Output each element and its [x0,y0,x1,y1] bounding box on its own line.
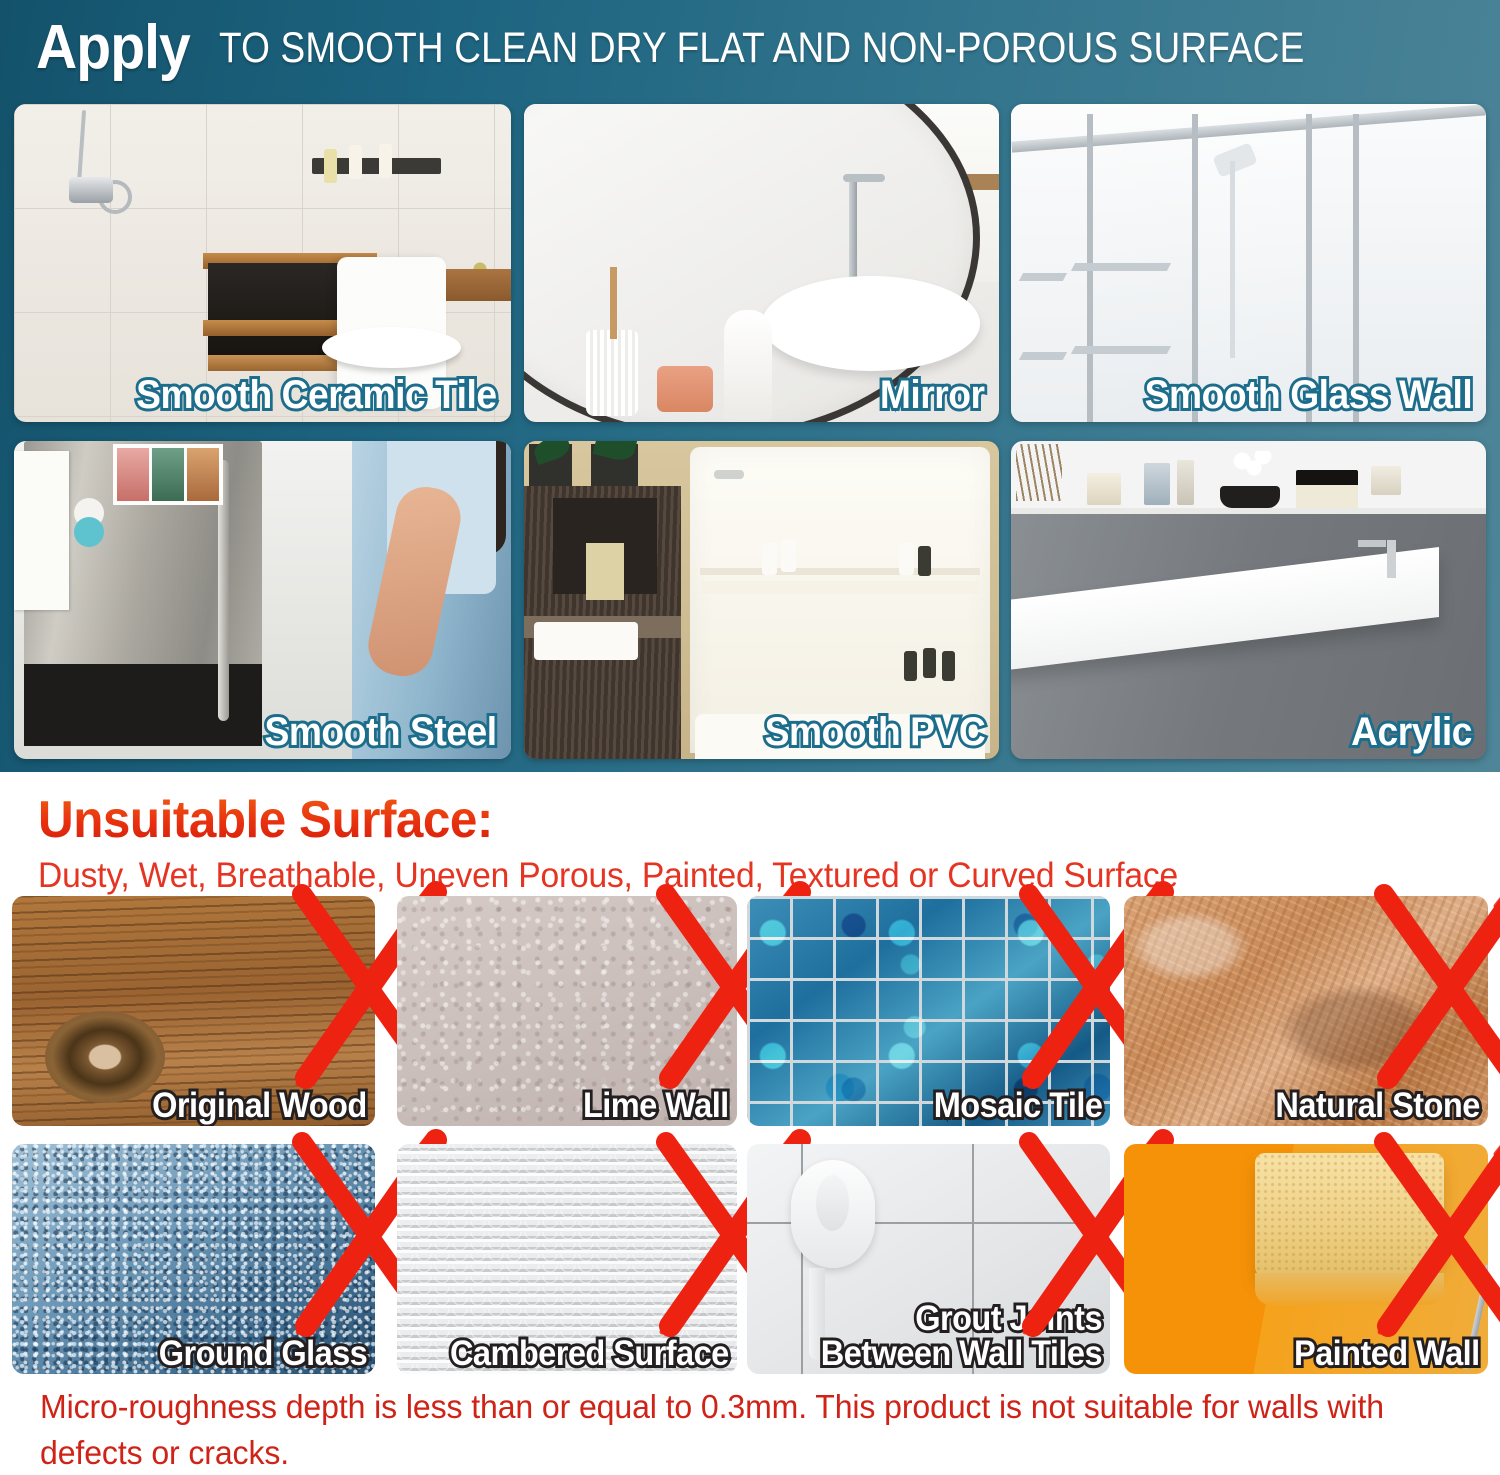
unsuitable-tile-lime-wall: Lime Wall [397,896,737,1126]
infographic-page: Apply TO SMOOTH CLEAN DRY FLAT AND NON-P… [0,0,1500,1463]
unsuitable-tile-label: Cambered Surface [450,1336,729,1372]
unsuitable-surfaces-section: Unsuitable Surface: Dusty, Wet, Breathab… [0,772,1500,1463]
unsuitable-tile-grid: Original Wood Lime Wall [12,896,1488,1374]
suitable-tile-pvc: Smooth PVC [524,441,999,759]
unsuitable-row-1: Original Wood Lime Wall [12,896,1488,1126]
suitable-tile-steel: Smooth Steel [14,441,511,759]
unsuitable-tile-original-wood: Original Wood [12,896,375,1126]
unsuitable-tile-ground-glass: Ground Glass [12,1144,375,1374]
suitable-tile-label: Smooth Ceramic Tile [136,374,497,416]
suitable-tile-mirror: Mirror [524,104,999,422]
suitable-row-1: Smooth Ceramic Tile Mirror [14,104,1486,422]
unsuitable-title: Unsuitable Surface: [38,794,493,846]
suitable-tile-grid: Smooth Ceramic Tile Mirror [14,104,1486,759]
unsuitable-tile-label: Natural Stone [1276,1088,1480,1124]
unsuitable-tile-label: Mosaic Tile [933,1088,1102,1124]
unsuitable-row-2: Ground Glass Cambered Surface [12,1144,1488,1374]
suitable-row-2: Smooth Steel [14,441,1486,759]
unsuitable-tile-painted-wall: Painted Wall [1124,1144,1488,1374]
apply-headline-rest: TO SMOOTH CLEAN DRY FLAT AND NON-POROUS … [219,27,1304,70]
suitable-tile-label: Mirror [880,374,985,416]
unsuitable-tile-grout-joints: Grout Joints Between Wall Tiles [747,1144,1110,1374]
suitable-tile-label: Smooth Glass Wall [1144,374,1472,416]
apply-header: Apply TO SMOOTH CLEAN DRY FLAT AND NON-P… [0,0,1500,96]
unsuitable-tile-mosaic: Mosaic Tile [747,896,1110,1126]
suitable-tile-label: Smooth Steel [265,711,497,753]
unsuitable-tile-cambered: Cambered Surface [397,1144,737,1374]
unsuitable-tile-label: Original Wood [152,1088,367,1124]
suitable-tile-label: Smooth PVC [764,711,985,753]
suitable-tile-ceramic: Smooth Ceramic Tile [14,104,511,422]
unsuitable-tile-label: Grout Joints Between Wall Tiles [795,1301,1102,1372]
suitable-tile-glass-wall: Smooth Glass Wall [1011,104,1486,422]
unsuitable-tile-label: Ground Glass [158,1336,367,1372]
suitable-tile-acrylic: Acrylic [1011,441,1486,759]
suitable-surfaces-section: Apply TO SMOOTH CLEAN DRY FLAT AND NON-P… [0,0,1500,772]
micro-roughness-note: Micro-roughness depth is less than or eq… [40,1384,1417,1475]
unsuitable-tile-natural-stone: Natural Stone [1124,896,1488,1126]
suitable-tile-label: Acrylic [1351,711,1472,753]
unsuitable-tile-label: Lime Wall [583,1088,729,1124]
apply-headline-emphasis: Apply [36,17,190,79]
unsuitable-tile-label: Painted Wall [1294,1336,1480,1372]
unsuitable-subtitle: Dusty, Wet, Breathable, Uneven Porous, P… [38,858,1178,893]
